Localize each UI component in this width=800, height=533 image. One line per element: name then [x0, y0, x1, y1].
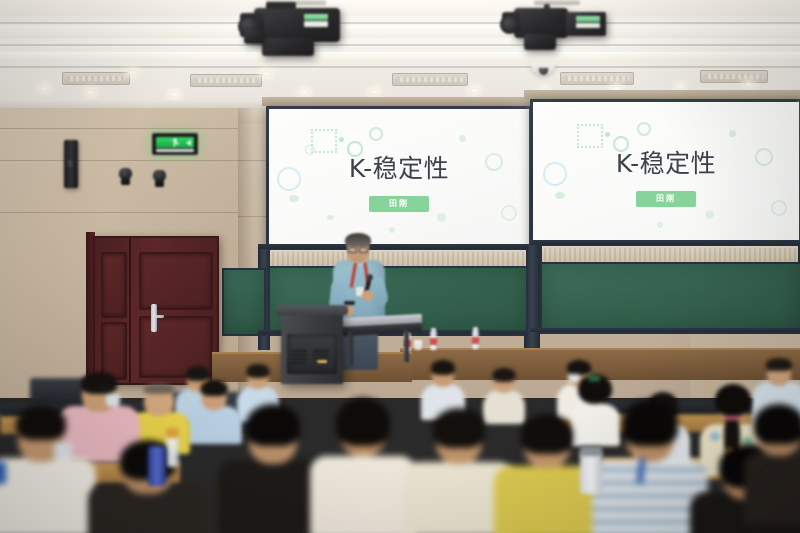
- podium-front-panel: [287, 334, 337, 374]
- ptz-camera: [118, 168, 133, 185]
- bottle-cap: [166, 428, 179, 438]
- water-bottle: [166, 435, 179, 467]
- ceiling-downlight: [370, 89, 379, 94]
- person-hair: [433, 408, 485, 448]
- chalkboard-far-left: [222, 268, 266, 336]
- door-panel: [139, 252, 213, 310]
- face-mask: [106, 394, 120, 406]
- hvac-vent: [392, 73, 468, 86]
- face-mask: [54, 442, 72, 458]
- ceiling-downlight: [676, 84, 685, 89]
- podium-speaker-grille: [291, 348, 307, 364]
- person-hair: [493, 368, 516, 382]
- audience-member: [310, 398, 416, 533]
- ceiling-downlight: [170, 92, 179, 97]
- ceiling-downlight: [40, 86, 49, 91]
- presenter-hair: [345, 233, 371, 247]
- ceiling-light-strip: [0, 52, 800, 62]
- person-hair: [144, 384, 175, 394]
- camera-tally-light: [304, 14, 328, 20]
- right-screen-surface: K-稳定性 田刚: [533, 102, 799, 248]
- lectern-leg: [404, 330, 409, 362]
- camera-tally-light: [576, 16, 600, 22]
- running-man-icon: [172, 138, 179, 147]
- person-body: [310, 456, 416, 533]
- hvac-vent: [560, 72, 634, 85]
- person-hair: [754, 404, 800, 444]
- ceiling-light-strip: [0, 26, 800, 38]
- person-hair: [246, 404, 300, 446]
- ceiling-downlight: [300, 90, 309, 95]
- thermos-bottle: [580, 452, 602, 494]
- person-hair: [247, 364, 270, 378]
- slide-title: K-稳定性: [616, 144, 716, 180]
- screen-valance: [524, 90, 800, 99]
- board-track: [530, 240, 800, 245]
- hvac-vent: [700, 70, 768, 83]
- eyeglasses-icon: [98, 388, 116, 392]
- right-screen[interactable]: K-稳定性 田刚: [530, 99, 800, 251]
- water-bottle: [472, 330, 479, 349]
- person-hair: [431, 360, 455, 375]
- hair-tie: [724, 416, 740, 420]
- person-hair: [186, 366, 210, 381]
- door-panel: [101, 252, 127, 318]
- exit-sign-face: [156, 137, 194, 148]
- lecture-hall-screenshot: K-稳定性 田刚: [0, 0, 800, 533]
- water-bottle: [430, 331, 437, 350]
- slide-speaker-badge: 田刚: [636, 191, 696, 207]
- ceiling-downlight: [470, 88, 479, 93]
- left-screen-surface: K-稳定性 田刚: [269, 109, 529, 251]
- ceiling-light-strip: [0, 0, 800, 16]
- person-body: [744, 452, 800, 524]
- board-track: [530, 328, 800, 332]
- person-hair: [622, 400, 678, 446]
- person-body: [0, 458, 96, 533]
- slide-title: K-稳定性: [349, 149, 449, 185]
- audience-member: [744, 404, 800, 524]
- chalkboard-right: [540, 262, 800, 334]
- exit-sign: [152, 133, 198, 155]
- eyeglasses-icon: [348, 247, 368, 251]
- person-hair: [567, 360, 591, 375]
- slide-content: K-稳定性 田刚: [269, 109, 529, 251]
- shirt-trim: [0, 462, 6, 484]
- podium-top-surface: [276, 305, 348, 315]
- hair-bow: [588, 376, 600, 381]
- ceiling-video-camera-left: [236, 0, 376, 64]
- ptz-camera: [152, 170, 167, 187]
- lectern-leg: [348, 332, 353, 366]
- slide-speaker-badge: 田刚: [369, 196, 429, 212]
- wall-speaker: [64, 140, 78, 188]
- person-hair: [336, 398, 390, 446]
- door-handle[interactable]: [151, 304, 157, 332]
- presenter-right-hand: [362, 290, 373, 301]
- thermos-lid: [580, 446, 602, 456]
- hvac-vent: [62, 72, 130, 85]
- hvac-vent: [190, 74, 262, 87]
- lecture-hall-door[interactable]: [93, 236, 219, 385]
- ceiling-video-camera-right: [500, 0, 630, 60]
- screen-valance: [262, 97, 534, 106]
- board-track: [258, 244, 528, 249]
- arrow-icon: [186, 140, 191, 146]
- podium-status-led: [317, 360, 327, 363]
- person-hair: [16, 406, 66, 440]
- multimedia-podium[interactable]: [281, 312, 343, 384]
- person-hair: [521, 414, 573, 454]
- eyeglasses-icon: [766, 370, 784, 374]
- floral-pattern: [710, 432, 720, 441]
- ceiling-downlight: [262, 71, 271, 76]
- audience-member: [0, 406, 96, 533]
- ceiling-downlight: [128, 70, 137, 75]
- person-hair: [201, 380, 228, 396]
- ceiling-downlight: [744, 82, 753, 87]
- slide-content: K-稳定性 田刚: [533, 102, 799, 248]
- thermos-bottle: [148, 446, 166, 486]
- left-screen[interactable]: K-稳定性 田刚: [266, 106, 532, 254]
- ceiling-downlight: [86, 90, 95, 95]
- paper-cup: [414, 340, 422, 350]
